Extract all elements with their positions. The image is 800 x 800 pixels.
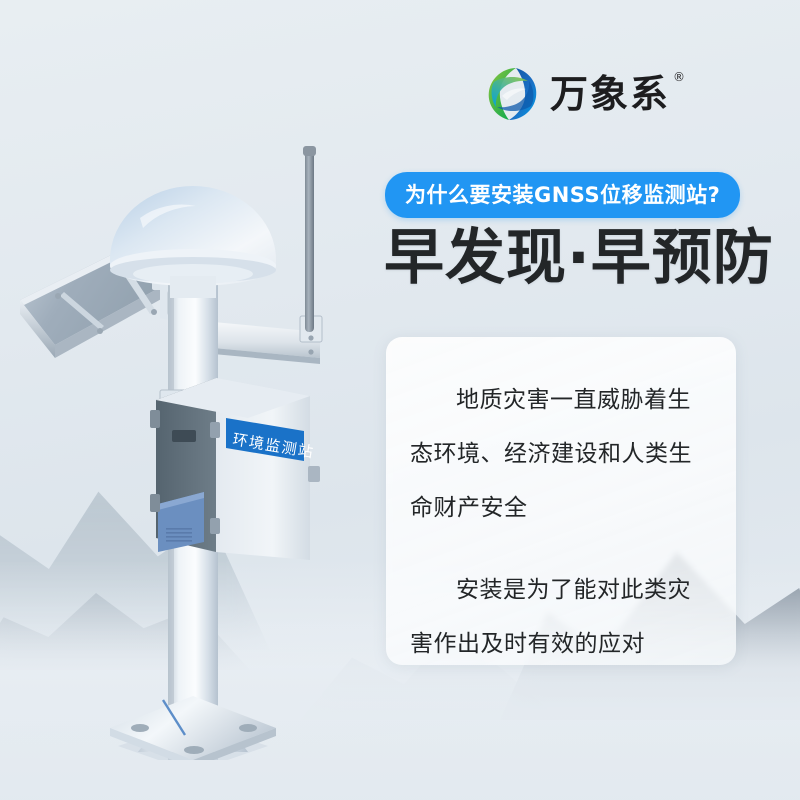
description-paragraph-2: 安装是为了能对此类灾害作出及时有效的应对 [410,563,710,671]
description-card: 地质灾害一直威胁着生态环境、经济建设和人类生命财产安全 安装是为了能对此类灾害作… [386,337,736,665]
brand-name: 万象系 ® [550,75,670,113]
brand-logo: 万象系 ® [486,66,670,122]
brand-name-text: 万象系 [550,72,670,116]
gnss-monitoring-station-illustration: 环境监测站 [0,100,380,760]
enclosure-box-icon: 环境监测站 [150,378,320,560]
base-plate-icon [110,696,276,760]
globe-swirl-icon [486,66,540,122]
page-title: 早发现·早预防 [384,228,774,288]
description-paragraph-1: 地质灾害一直威胁着生态环境、经济建设和人类生命财产安全 [410,373,710,535]
registered-trademark-icon: ® [673,71,685,83]
poster-canvas: 环境监测站 [0,0,800,800]
antenna-rod-icon [303,146,316,332]
question-badge: 为什么要安装GNSS位移监测站? [385,172,740,218]
